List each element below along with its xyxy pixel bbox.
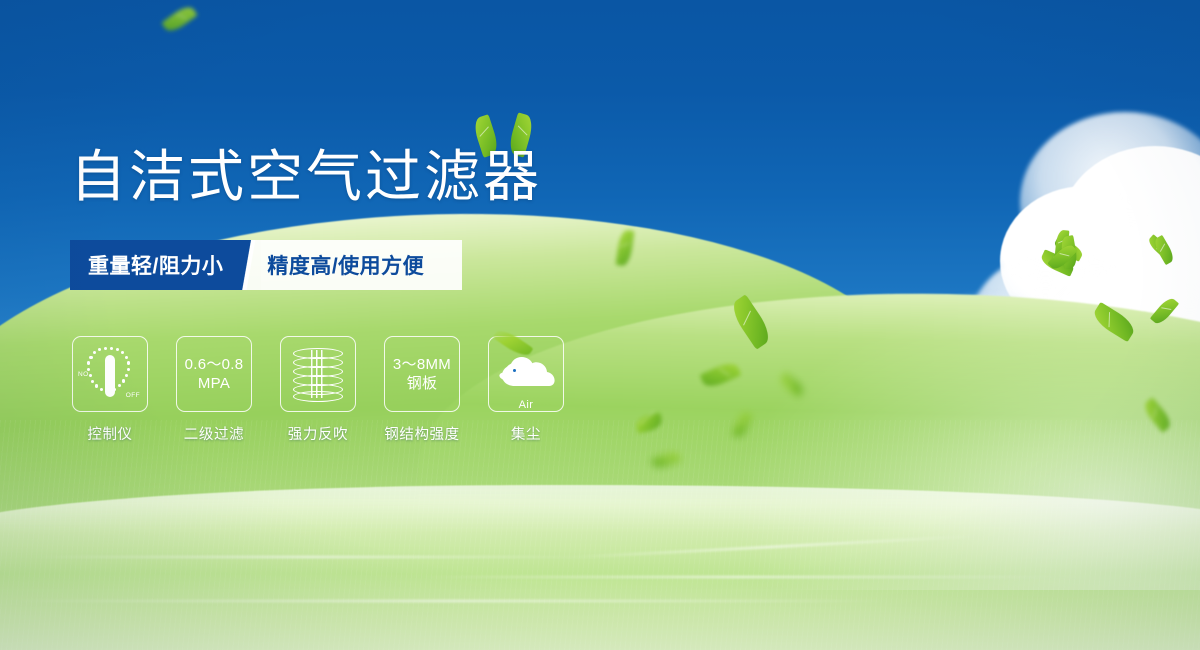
feature-icon-box: 0.6～0.8 MPA bbox=[176, 336, 252, 412]
cloud-shape-icon bbox=[495, 352, 557, 392]
cloud-air-icon: Air bbox=[495, 352, 557, 396]
pressure-text-icon-line2: MPA bbox=[198, 374, 230, 393]
feature-label: 控制仪 bbox=[87, 423, 132, 444]
leaf-float-9 bbox=[1055, 229, 1070, 258]
feature-list: NO OFF 控制仪 0.6～0.8 MPA 二级过滤 bbox=[72, 336, 564, 444]
feature-item-blowback[interactable]: 强力反吹 bbox=[280, 336, 356, 444]
leaf-float-1 bbox=[161, 3, 197, 35]
feature-label: 钢结构强度 bbox=[384, 423, 460, 444]
gauge-label-on: NO bbox=[78, 371, 89, 378]
leaf-float-11 bbox=[1146, 234, 1173, 260]
leaf-float-8 bbox=[1052, 236, 1085, 262]
feature-item-steel[interactable]: 3～8MM 钢板 钢结构强度 bbox=[384, 336, 460, 444]
leaf-float-12 bbox=[1047, 242, 1077, 273]
control-gauge-icon: NO OFF bbox=[79, 345, 141, 403]
feature-label: 二级过滤 bbox=[184, 423, 244, 444]
coil-spiral-icon bbox=[293, 346, 343, 402]
steel-plate-text-icon-line1: 3～8MM bbox=[393, 355, 451, 374]
subtitle-divider bbox=[239, 240, 261, 290]
leaf-float-13 bbox=[1152, 235, 1176, 265]
steel-plate-text-icon-line2: 钢板 bbox=[407, 374, 438, 393]
leaf-float-7 bbox=[1039, 249, 1076, 277]
feature-icon-box bbox=[280, 336, 356, 412]
subtitle-bar: 重量轻/阻力小 精度高/使用方便 bbox=[70, 240, 462, 290]
feature-label: 强力反吹 bbox=[288, 423, 348, 444]
feature-icon-box: NO OFF bbox=[72, 336, 148, 412]
feature-item-control[interactable]: NO OFF 控制仪 bbox=[72, 336, 148, 444]
subtitle-left: 重量轻/阻力小 bbox=[70, 240, 239, 290]
subtitle-right: 精度高/使用方便 bbox=[261, 240, 462, 290]
cloud-air-label: Air bbox=[495, 399, 557, 411]
feature-item-dust[interactable]: Air 集尘 bbox=[488, 336, 564, 444]
feature-item-pressure[interactable]: 0.6～0.8 MPA 二级过滤 bbox=[176, 336, 252, 444]
feature-label: 集尘 bbox=[511, 423, 541, 444]
feature-icon-box: Air bbox=[488, 336, 564, 412]
grass-texture bbox=[0, 420, 1200, 650]
leaf-float-10 bbox=[1059, 235, 1078, 269]
title-block: 自洁式空气过滤器 bbox=[70, 146, 542, 208]
pressure-text-icon-line1: 0.6～0.8 bbox=[185, 355, 244, 374]
gauge-label-off: OFF bbox=[126, 392, 140, 399]
feature-icon-box: 3～8MM 钢板 bbox=[384, 336, 460, 412]
page-title: 自洁式空气过滤器 bbox=[70, 146, 542, 208]
promotional-banner: 自洁式空气过滤器 重量轻/阻力小 精度高/使用方便 bbox=[0, 0, 1200, 650]
